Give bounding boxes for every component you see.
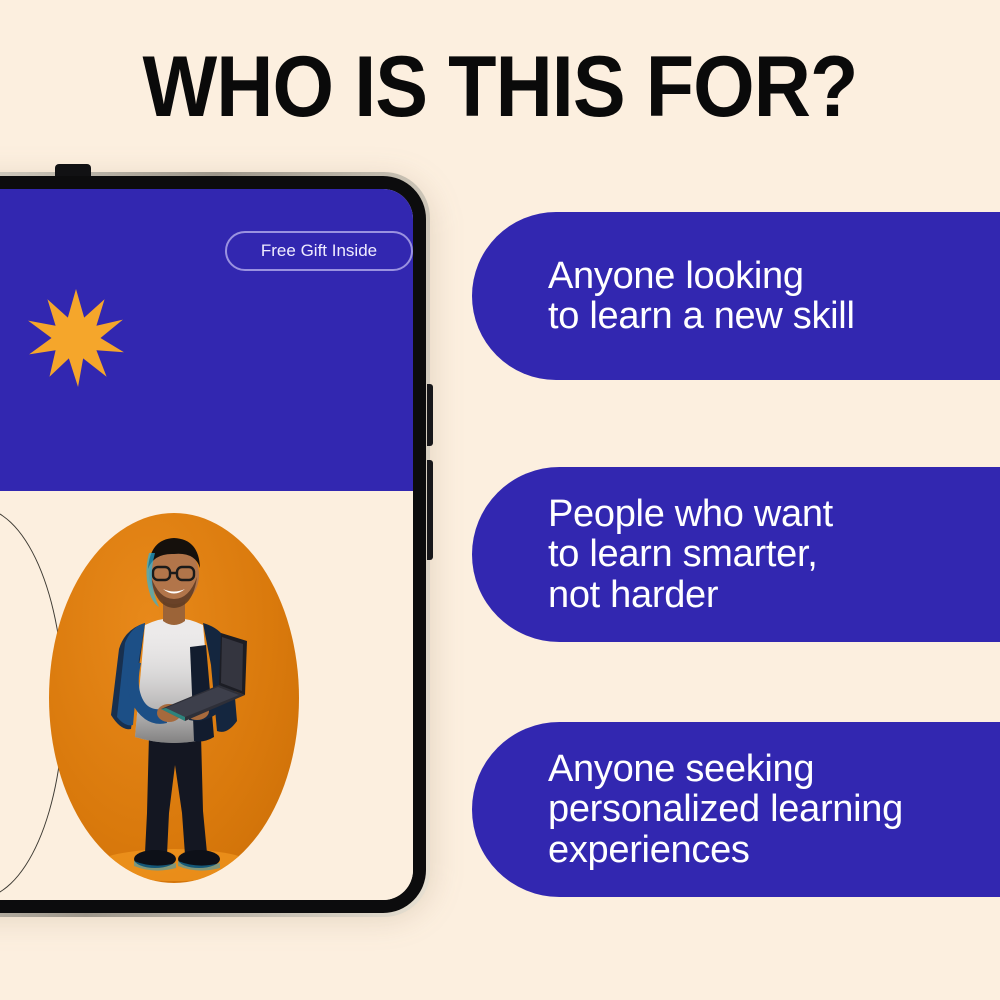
- audience-pill-text: Anyone looking to learn a new skill: [548, 256, 855, 337]
- camera-bump: [55, 164, 91, 176]
- page-title: WHO IS THIS FOR?: [40, 44, 960, 130]
- starburst-icon: [25, 287, 127, 389]
- screen-headline-line-3: l: [0, 391, 167, 436]
- screen-bottom-panel: [0, 491, 413, 900]
- screen-tag-free-gift[interactable]: Free Gift Inside: [225, 231, 413, 271]
- audience-pill-text: People who want to learn smarter, not ha…: [548, 494, 833, 615]
- power-button[interactable]: [427, 460, 433, 560]
- volume-button[interactable]: [427, 384, 433, 446]
- person-photo-ellipse: [49, 513, 299, 883]
- poster-canvas: WHO IS THIS FOR? st Free Gift Inside ng …: [0, 0, 1000, 1000]
- audience-pill[interactable]: Anyone seeking personalized learning exp…: [472, 722, 1000, 897]
- audience-pill-text: Anyone seeking personalized learning exp…: [548, 749, 903, 870]
- screen-top-panel: st Free Gift Inside ng ai prompts earn a…: [0, 189, 413, 491]
- audience-pill[interactable]: People who want to learn smarter, not ha…: [472, 467, 1000, 642]
- person-with-laptop-illustration: [49, 513, 299, 883]
- device-screen: st Free Gift Inside ng ai prompts earn a…: [0, 189, 413, 900]
- tablet-device-mockup: st Free Gift Inside ng ai prompts earn a…: [0, 172, 430, 917]
- audience-pill[interactable]: Anyone looking to learn a new skill: [472, 212, 1000, 380]
